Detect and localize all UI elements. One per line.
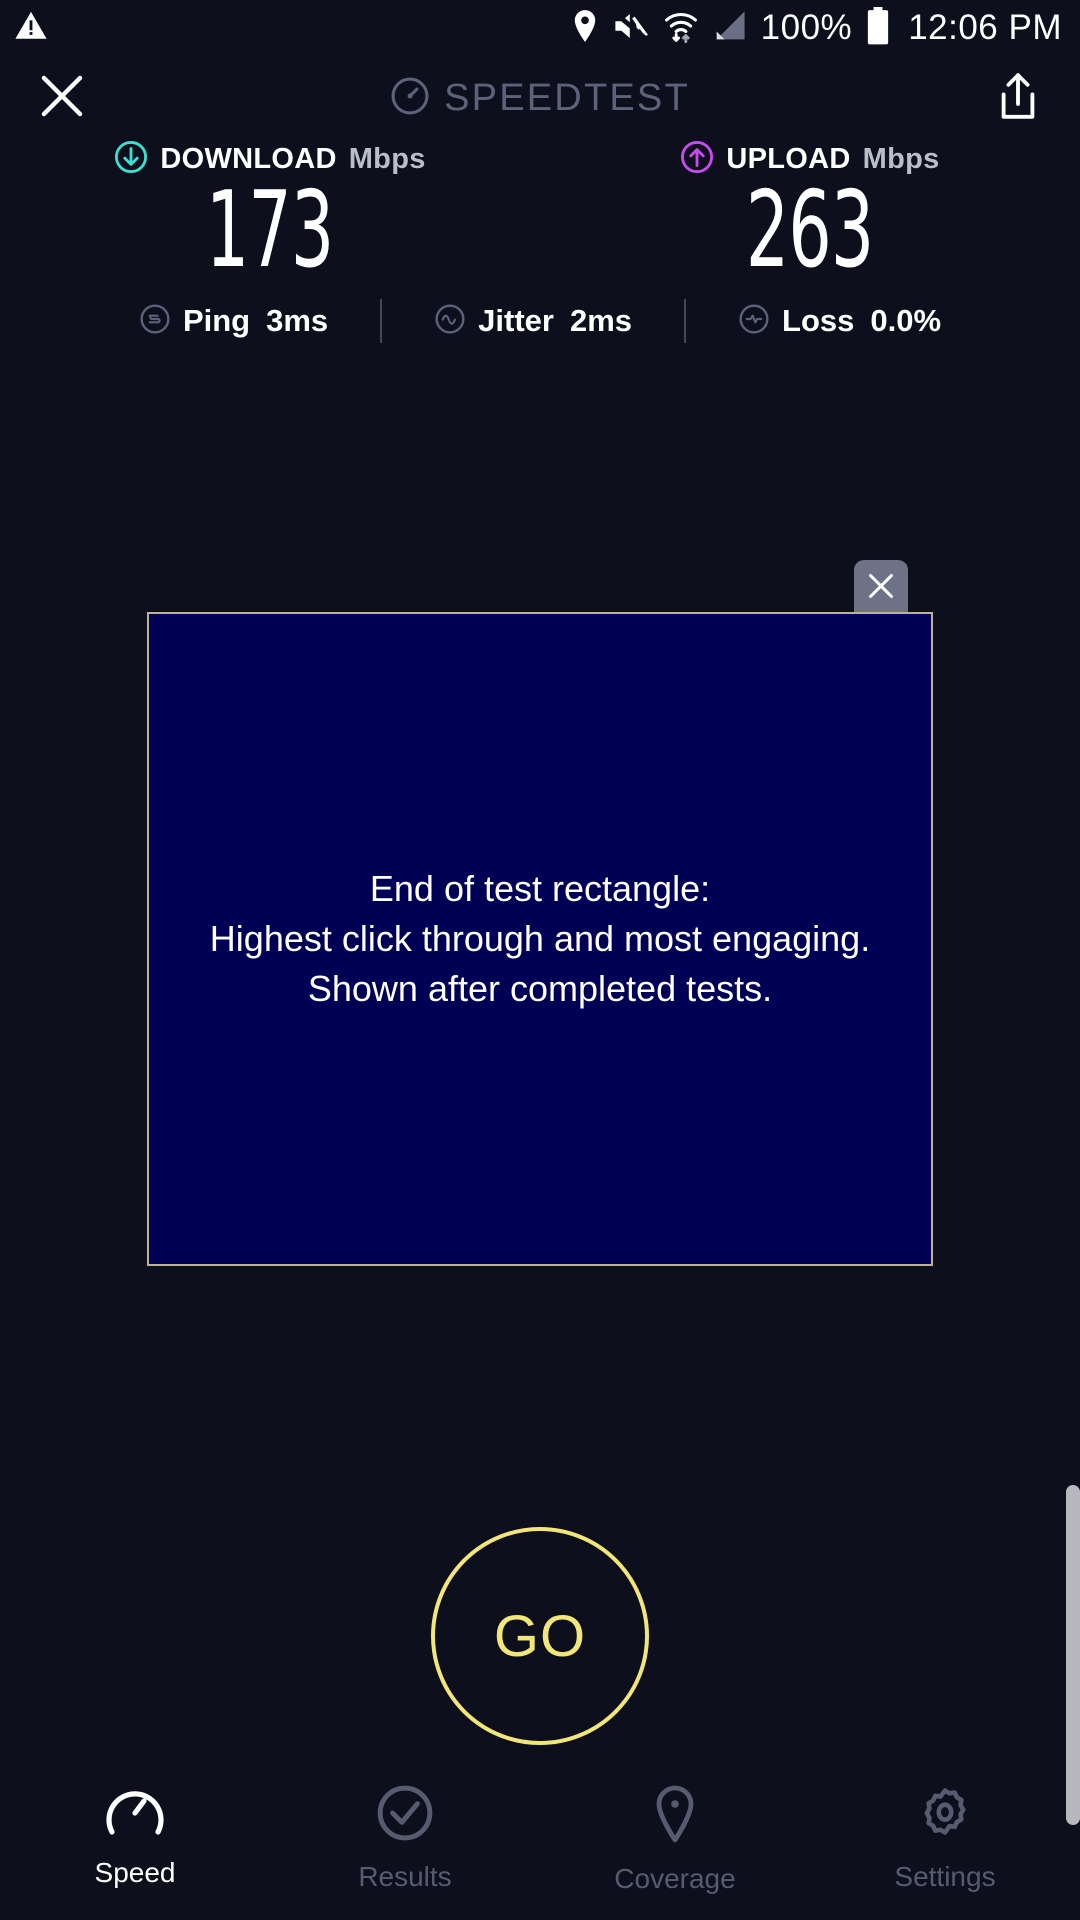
speed-metrics-row: DOWNLOAD Mbps 173 UPLOAD Mbps 263 (0, 140, 1080, 285)
connection-stats-row: Ping 3ms Jitter 2ms Loss 0.0% (0, 299, 1080, 343)
nav-item-settings[interactable]: Settings (810, 1784, 1080, 1893)
battery-full-icon (866, 7, 890, 50)
upload-metric: UPLOAD Mbps 263 (540, 140, 1080, 285)
clock-label: 12:06 PM (908, 8, 1062, 48)
download-value: 173 (206, 175, 334, 285)
gear-icon (916, 1784, 974, 1847)
stat-divider (380, 299, 382, 343)
ad-close-icon (866, 571, 896, 606)
volume-muted-icon (613, 10, 649, 47)
brand-title: SPEEDTEST (444, 77, 690, 120)
speedometer-icon (390, 76, 430, 121)
loss-icon (738, 303, 770, 340)
nav-item-coverage[interactable]: Coverage (540, 1784, 810, 1895)
ad-line-2: Highest click through and most engaging. (210, 914, 870, 964)
speedometer-icon (105, 1784, 165, 1843)
cellular-signal-icon (713, 10, 747, 47)
wifi-transfer-icon (663, 8, 699, 49)
download-unit: Mbps (349, 143, 426, 176)
jitter-value: 2ms (570, 303, 632, 339)
go-button-label: GO (494, 1603, 586, 1670)
loss-label: Loss (782, 303, 854, 339)
brand-lockup: SPEEDTEST (0, 58, 1080, 138)
upload-unit: Mbps (863, 143, 940, 176)
app-header: SPEEDTEST (0, 58, 1080, 138)
jitter-stat: Jitter 2ms (434, 303, 632, 340)
upload-arrow-icon (680, 140, 714, 179)
ad-close-button[interactable] (854, 560, 908, 616)
warning-triangle-icon (14, 9, 48, 48)
loss-stat: Loss 0.0% (738, 303, 941, 340)
stat-divider (684, 299, 686, 343)
status-bar: 100% 12:06 PM (0, 0, 1080, 56)
check-circle-icon (376, 1784, 434, 1847)
results-panel: DOWNLOAD Mbps 173 UPLOAD Mbps 263 Ping 3… (0, 140, 1080, 343)
ad-line-3: Shown after completed tests. (210, 964, 870, 1014)
nav-label-settings: Settings (894, 1861, 995, 1893)
bottom-navigation: Speed Results Coverage Settings (0, 1770, 1080, 1920)
nav-item-speed[interactable]: Speed (0, 1784, 270, 1889)
nav-label-coverage: Coverage (614, 1863, 735, 1895)
share-button[interactable] (992, 70, 1044, 126)
close-button[interactable] (36, 72, 88, 124)
ad-line-1: End of test rectangle: (210, 864, 870, 914)
close-icon (39, 73, 85, 124)
nav-item-results[interactable]: Results (270, 1784, 540, 1893)
share-icon (997, 72, 1039, 125)
ping-value: 3ms (266, 303, 328, 339)
go-button-container: GO (0, 1527, 1080, 1745)
ping-label: Ping (183, 303, 250, 339)
jitter-icon (434, 303, 466, 340)
advertisement-text: End of test rectangle: Highest click thr… (210, 864, 870, 1013)
location-pin-icon (571, 9, 599, 48)
upload-value: 263 (746, 175, 874, 285)
loss-value: 0.0% (870, 303, 941, 339)
nav-label-speed: Speed (95, 1857, 176, 1889)
download-metric: DOWNLOAD Mbps 173 (0, 140, 540, 285)
location-pin-icon (650, 1784, 700, 1849)
jitter-label: Jitter (478, 303, 554, 339)
battery-percent-label: 100% (761, 8, 853, 48)
ping-icon (139, 303, 171, 340)
nav-label-results: Results (358, 1861, 451, 1893)
go-button[interactable]: GO (431, 1527, 649, 1745)
download-arrow-icon (114, 140, 148, 179)
ping-stat: Ping 3ms (139, 303, 328, 340)
advertisement-banner[interactable]: End of test rectangle: Highest click thr… (147, 612, 933, 1266)
